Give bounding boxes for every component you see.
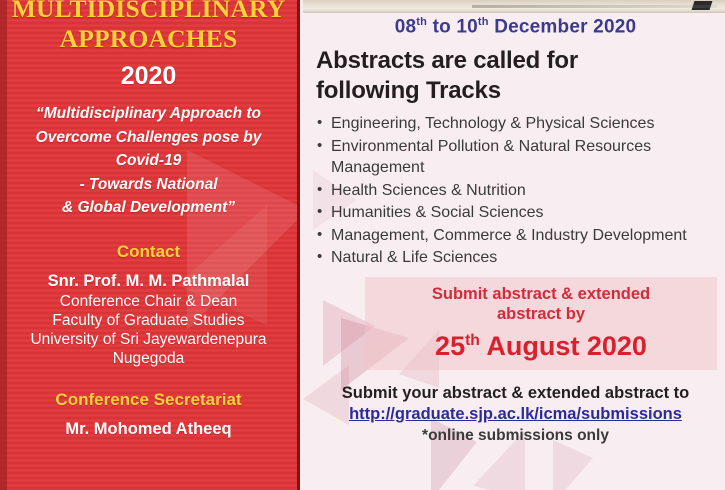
theme-line: - Towards National [8, 173, 289, 197]
track-item: Management, Commerce & Industry Developm… [316, 225, 715, 247]
contact-heading: Contact [8, 242, 289, 262]
conference-theme: “Multidisciplinary Approach to Overcome … [8, 102, 289, 220]
deadline-ordinal-suffix: th [465, 332, 480, 349]
poster-title-year: 2020 [8, 56, 289, 96]
abstracts-heading: Abstracts are called for following Track… [316, 46, 715, 106]
theme-line: Covid-19 [8, 149, 289, 173]
contact-affiliation-line: Nugegoda [8, 349, 289, 368]
date-ordinal-suffix: th [416, 16, 427, 28]
poster-title-line1: MULTIDISCIPLINARY [8, 0, 289, 22]
secretariat-person-name: Mr. Mohomed Atheeq [8, 419, 289, 440]
contact-person-name: Snr. Prof. M. M. Pathmalal [8, 271, 289, 292]
track-item: Humanities & Social Sciences [316, 202, 715, 224]
date-day-start: 08 [395, 16, 417, 37]
right-info-panel: 08th to 10th December 2020 Abstracts are… [303, 0, 725, 490]
decorative-triangle-icon [553, 440, 593, 490]
track-item: Natural & Life Sciences [316, 247, 715, 269]
track-list: Engineering, Technology & Physical Scien… [316, 113, 715, 269]
date-ordinal-suffix: th [478, 16, 489, 28]
submit-instruction: Submit your abstract & extended abstract… [316, 384, 715, 403]
deadline-label-line1: Submit abstract & extended [371, 284, 711, 304]
photo-strip-object [692, 1, 713, 10]
date-connector: to 10 [427, 16, 478, 37]
submission-info: Submit your abstract & extended abstract… [303, 384, 725, 445]
left-red-panel: MULTIDISCIPLINARY APPROACHES 2020 “Multi… [0, 0, 300, 490]
conference-poster: MULTIDISCIPLINARY APPROACHES 2020 “Multi… [0, 0, 725, 490]
theme-line: & Global Development” [8, 196, 289, 220]
deadline-month-year: August 2020 [480, 331, 647, 361]
contact-affiliation-line: University of Sri Jayewardenepura [8, 330, 289, 349]
deadline-day: 25 [435, 331, 465, 361]
abstracts-heading-line2: following Tracks [316, 76, 715, 106]
submission-deadline-box: Submit abstract & extended abstract by 2… [365, 277, 717, 370]
left-panel-content: MULTIDISCIPLINARY APPROACHES 2020 “Multi… [0, 0, 297, 440]
online-only-note: *online submissions only [316, 427, 715, 445]
right-panel-content: 08th to 10th December 2020 Abstracts are… [303, 16, 725, 269]
secretariat-heading: Conference Secretariat [8, 390, 289, 410]
poster-title-line2: APPROACHES [8, 22, 289, 56]
theme-line: “Multidisciplinary Approach to [8, 102, 289, 126]
abstracts-heading-line1: Abstracts are called for [316, 46, 715, 76]
contact-affiliation-line: Conference Chair & Dean [8, 292, 289, 311]
date-month-year: December 2020 [489, 16, 637, 37]
track-item: Engineering, Technology & Physical Scien… [316, 113, 715, 135]
theme-line: Overcome Challenges pose by [8, 126, 289, 150]
contact-affiliation-line: Faculty of Graduate Studies [8, 311, 289, 330]
deadline-date: 25th August 2020 [371, 325, 711, 362]
top-photo-strip [303, 0, 725, 13]
track-item: Environmental Pollution & Natural Resour… [316, 136, 715, 179]
track-item: Health Sciences & Nutrition [316, 180, 715, 202]
deadline-label-line2: abstract by [371, 304, 711, 324]
conference-date: 08th to 10th December 2020 [316, 16, 715, 38]
submission-url-link[interactable]: http://graduate.sjp.ac.lk/icma/submissio… [316, 405, 715, 424]
